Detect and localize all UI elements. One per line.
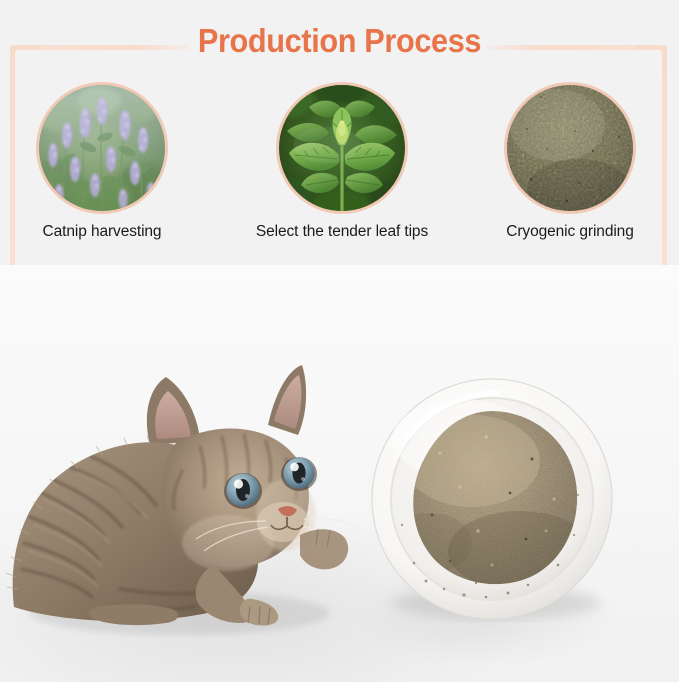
page-title: Production Process [24,22,655,60]
step-label: Catnip harvesting [2,223,202,241]
process-step-select-tender-leaf-tips: Select the tender leaf tips [242,85,442,241]
catnip-powder-dish-photo [368,375,616,623]
process-steps: Catnip harvesting [0,85,679,260]
catnip-leaves-closeup-photo [279,85,405,211]
product-infographic-page: Production Process [0,0,679,682]
ground-catnip-powder-photo [507,85,633,211]
catnip-flowers-field-photo [39,85,165,211]
process-step-cryogenic-grinding: Cryogenic grinding [470,85,670,241]
step-label: Cryogenic grinding [470,223,670,241]
tabby-kitten-photo [0,277,360,637]
process-step-catnip-harvesting: Catnip harvesting [2,85,202,241]
step-label: Select the tender leaf tips [242,223,442,241]
hero-photo-area [0,265,679,682]
